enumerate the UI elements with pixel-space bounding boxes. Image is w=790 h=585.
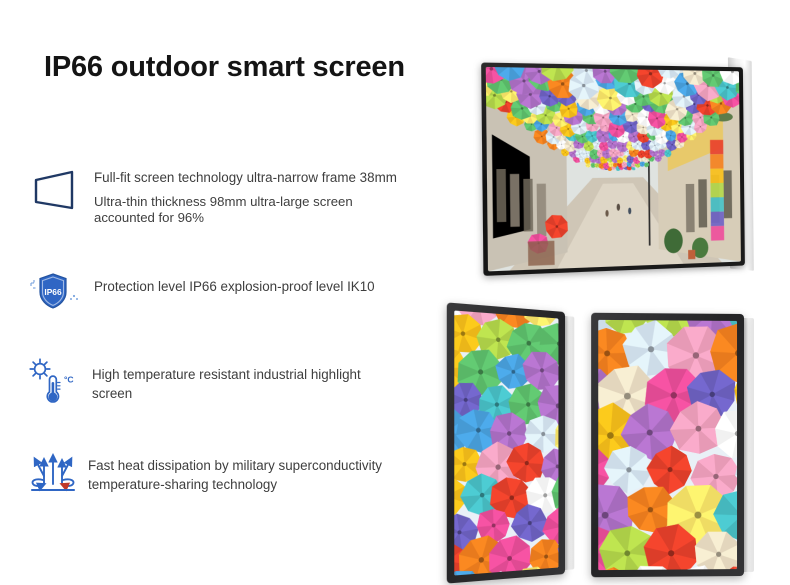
feature-item-full-fit-screen: Full-fit screen technology ultra-narrow …	[26, 166, 397, 225]
feature-text-group: Protection level IP66 explosion-proof le…	[84, 266, 375, 296]
feature-line: Fast heat dissipation by military superc…	[88, 456, 382, 475]
feature-line: Full-fit screen technology ultra-narrow …	[94, 168, 397, 187]
feature-line: High temperature resistant industrial hi…	[92, 365, 361, 384]
feature-item-high-temperature: °C High temperature resistant industrial…	[22, 356, 361, 404]
feature-text-group: Fast heat dissipation by military superc…	[80, 450, 382, 494]
feature-line: temperature-sharing technology	[88, 475, 382, 494]
page-title: IP66 outdoor smart screen	[44, 51, 405, 84]
heat-dissipation-arrows-icon	[22, 450, 80, 498]
feature-item-protection-level: IP66 Protection level IP66 explosion-pro…	[26, 266, 375, 314]
shield-badge-label: IP66	[44, 287, 62, 297]
feature-text-group: Full-fit screen technology ultra-narrow …	[84, 166, 397, 225]
product-feature-page: IP66 outdoor smart screen Full-fit scree…	[0, 0, 790, 585]
feature-line: accounted for 96%	[94, 210, 397, 226]
feature-line: Protection level IP66 explosion-proof le…	[94, 277, 375, 296]
feature-item-heat-dissipation: Fast heat dissipation by military superc…	[22, 450, 382, 498]
screen-perspective-icon	[26, 166, 84, 214]
landscape-display	[489, 52, 781, 280]
celsius-badge-label: °C	[64, 375, 74, 385]
display-screen-landscape	[486, 67, 741, 271]
feature-line: Ultra-thin thickness 98mm ultra-large sc…	[94, 194, 397, 210]
display-screen-portrait-right	[598, 320, 737, 570]
portrait-display-right	[592, 314, 744, 576]
display-screen-portrait-left	[454, 310, 558, 575]
display-side-panel	[564, 316, 574, 570]
portrait-display-left	[447, 312, 565, 574]
feature-line: screen	[92, 384, 361, 403]
shield-ip66-icon: IP66	[26, 266, 84, 314]
feature-text-group: High temperature resistant industrial hi…	[80, 356, 361, 403]
display-side-panel	[743, 318, 754, 572]
sun-thermometer-icon: °C	[22, 356, 80, 404]
